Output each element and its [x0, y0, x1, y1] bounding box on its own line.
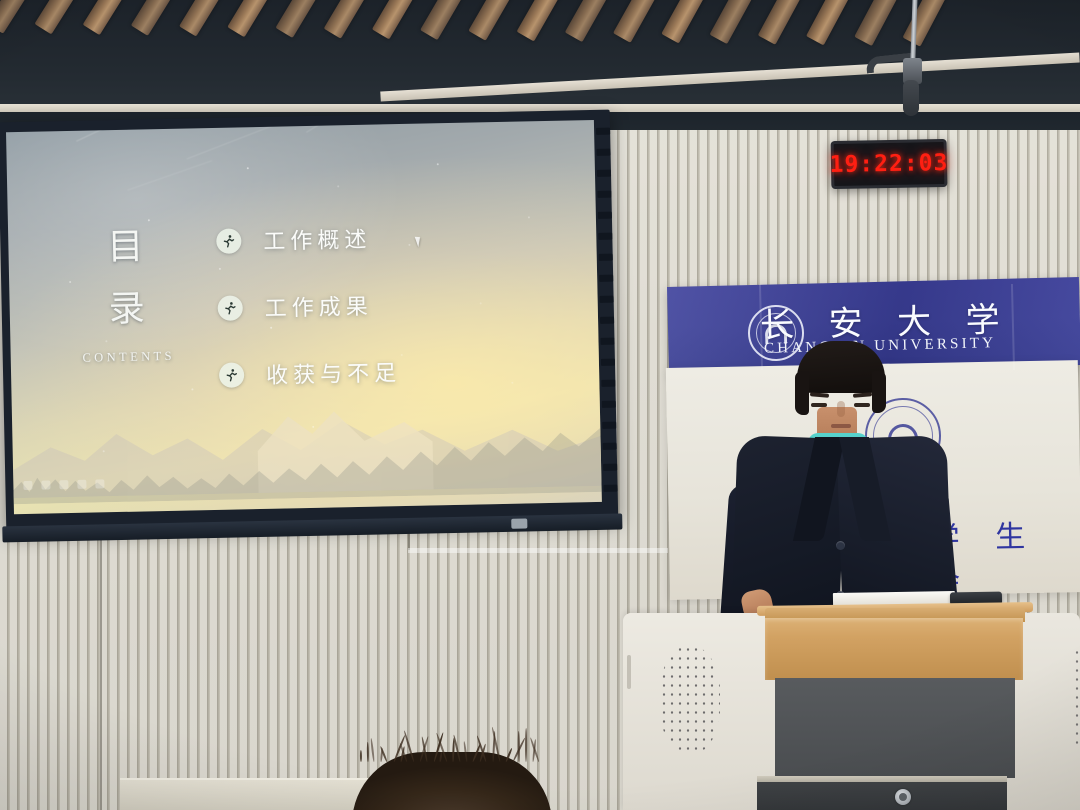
ceiling-beam — [806, 0, 980, 45]
podium-base — [757, 782, 1007, 810]
slide-toc-list: 工作概述工作成果收获与不足 — [216, 206, 402, 411]
slide-toc-item: 工作概述 — [216, 206, 399, 272]
slide-toc-item-label: 工作成果 — [264, 289, 373, 323]
slide-toc-item: 收获与不足 — [218, 340, 401, 406]
podium-speaker-grille — [660, 645, 720, 755]
projection-screen: 目 录 CONTENTS 工作概述工作成果收获与不足 — [0, 110, 618, 531]
screen-tab — [603, 443, 617, 450]
slide-toc-item-label: 收获与不足 — [266, 355, 402, 390]
lecture-hall-photo: 目 录 CONTENTS 工作概述工作成果收获与不足 19:22:03 — [0, 0, 1080, 810]
slide-toc-item-label: 工作概述 — [263, 222, 372, 256]
screen-tab — [596, 149, 610, 156]
slide-title-block: 目 录 CONTENTS — [66, 215, 189, 366]
slide-title-cn-1: 目 — [66, 215, 187, 279]
pen-icon[interactable] — [23, 481, 32, 490]
screen-tab — [598, 212, 612, 219]
screen-tab — [601, 359, 615, 366]
podium-speaker-grille — [1073, 648, 1080, 748]
mouse-cursor-icon — [415, 235, 423, 247]
jacket-button — [836, 541, 845, 550]
running-figure-icon — [217, 295, 243, 321]
screen-tab — [600, 317, 614, 324]
menu-icon[interactable] — [95, 479, 104, 488]
speaker-eye — [811, 403, 827, 407]
slide-title-cn-2: 录 — [67, 277, 188, 341]
hair-wisp — [360, 750, 362, 762]
screen-tab — [599, 275, 613, 282]
wall-panel-edge — [408, 548, 668, 553]
speaker-eye — [854, 403, 870, 407]
speaker-hair-side — [795, 371, 809, 415]
screen-tab — [599, 254, 613, 261]
screen-pull-knob[interactable] — [511, 518, 527, 528]
slideshow-icon[interactable] — [59, 480, 68, 489]
slide-title-en: CONTENTS — [69, 349, 189, 367]
screen-tab — [600, 338, 614, 345]
screen-tab — [601, 380, 615, 387]
slide-content: 目 录 CONTENTS 工作概述工作成果收获与不足 — [6, 120, 602, 514]
zoom-icon[interactable] — [77, 480, 86, 489]
screen-tab — [598, 233, 612, 240]
ceiling-beam — [902, 0, 1073, 47]
slide-surface: 目 录 CONTENTS 工作概述工作成果收获与不足 — [6, 120, 602, 514]
screen-tab — [604, 485, 618, 492]
screen-tab — [602, 422, 616, 429]
hair-wisp — [366, 742, 368, 762]
podium-wood-panel — [765, 618, 1023, 680]
running-figure-icon — [216, 228, 242, 254]
speaker-nose — [837, 401, 845, 417]
ceiling-rail — [380, 52, 1079, 101]
speaker-hair-side — [872, 371, 886, 413]
running-figure-icon — [219, 362, 245, 388]
presenter-toolbar[interactable] — [23, 479, 104, 490]
screen-tab — [600, 296, 614, 303]
screen-tab — [603, 464, 617, 471]
screen-tab — [602, 401, 616, 408]
podium-badge-icon — [895, 789, 911, 805]
digital-wall-clock: 19:22:03 — [831, 139, 948, 189]
screen-tab — [597, 191, 611, 198]
hanging-microphone — [903, 80, 919, 116]
speaker-mouth — [831, 424, 851, 428]
podium-slot — [627, 655, 631, 689]
pointer-icon[interactable] — [41, 480, 50, 489]
clock-time-display: 19:22:03 — [829, 150, 948, 178]
podium-front-panel — [775, 678, 1015, 778]
screen-tab — [596, 128, 610, 135]
slide-toc-item: 工作成果 — [217, 273, 400, 339]
screen-tab — [597, 170, 611, 177]
